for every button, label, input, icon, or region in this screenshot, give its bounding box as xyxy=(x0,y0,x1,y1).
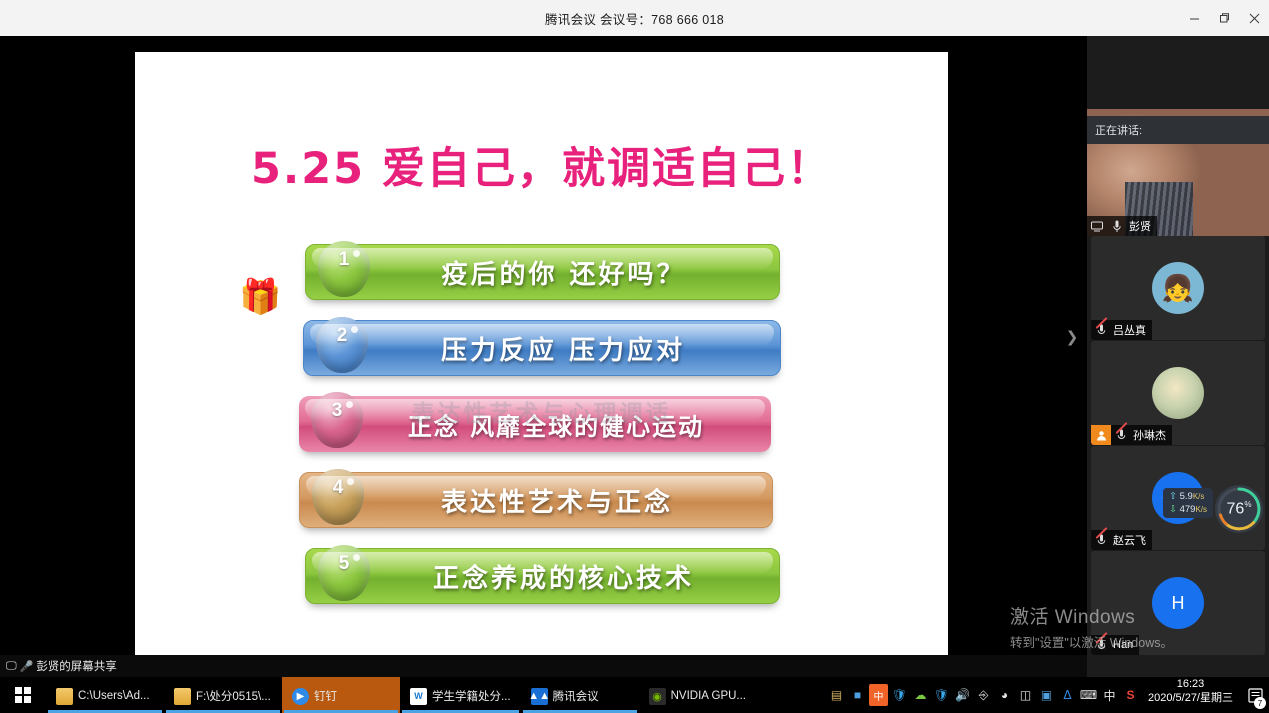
participant-tile-1[interactable]: 👧 吕丛真 xyxy=(1091,236,1265,340)
taskbar-label-5: NVIDIA GPU... xyxy=(671,690,746,702)
taskbar-item-nvidia[interactable]: ◉ NVIDIA GPU... xyxy=(639,677,757,713)
participant-namebar-4: Han xyxy=(1091,635,1139,655)
folder-icon xyxy=(56,688,73,705)
avatar: H xyxy=(1152,577,1204,629)
taskbar-label-3: 学生学籍处分... xyxy=(432,688,511,704)
taskbar-item-explorer-users[interactable]: C:\Users\Ad... xyxy=(46,677,164,713)
screen-share-status-bar: 🖵 🎤 彭贤的屏幕共享 xyxy=(0,655,1087,677)
bluetooth-icon[interactable]: ᐃ xyxy=(1058,684,1077,706)
badge-highlight-dot xyxy=(346,401,353,408)
tencent-meeting-icon: ▲▲ xyxy=(531,688,548,705)
gauge-number: 76 xyxy=(1227,500,1245,517)
sogou-icon[interactable]: S xyxy=(1121,684,1140,706)
battery-icon[interactable]: ◫ xyxy=(1016,684,1035,706)
speaking-now-label: 正在讲话: xyxy=(1087,116,1269,144)
microphone-icon xyxy=(1107,216,1127,236)
badge-highlight-dot xyxy=(347,478,354,485)
screen-share-status-text: 彭贤的屏幕共享 xyxy=(36,658,117,674)
close-button[interactable] xyxy=(1239,0,1269,36)
agenda-label-3: 正念 风靡全球的健心运动 xyxy=(299,407,771,442)
agenda-number-5: 5 xyxy=(339,553,350,575)
participant-namebar-2: 孙琳杰 xyxy=(1091,425,1172,445)
cloud-icon[interactable]: ☁ xyxy=(911,684,930,706)
volume-icon[interactable]: 🔊 xyxy=(953,684,972,706)
slide-agenda-list: 1 疫后的你 还好吗？ 2 压力反应 压力应对 xyxy=(135,234,948,614)
upload-speed-value: 5.9 xyxy=(1180,491,1193,502)
taskbar-label-0: C:\Users\Ad... xyxy=(78,690,150,702)
upload-speed-unit: K/s xyxy=(1193,492,1205,501)
shared-screen-stage: 5.25 爱自己，就调适自己！ 🎁 1 疫后的你 还好吗？ xyxy=(0,36,1087,677)
agenda-label-2: 压力反应 压力应对 xyxy=(304,330,780,367)
taskbar-label-4: 腾讯会议 xyxy=(553,688,599,704)
microphone-muted-icon xyxy=(1091,320,1111,340)
restore-button[interactable] xyxy=(1209,0,1239,36)
notification-count: 7 xyxy=(1254,697,1266,709)
participant-namebar-3: 赵云飞 xyxy=(1091,530,1152,550)
participants-sidebar: ❯ 正在讲话: 彭贤 👧 xyxy=(1087,36,1269,677)
title-bar: 腾讯会议 会议号：768 666 018 xyxy=(0,0,1269,36)
agenda-number-2: 2 xyxy=(337,325,348,347)
windows-logo-icon xyxy=(15,687,31,703)
host-badge-icon xyxy=(1091,425,1111,445)
window-title: 腾讯会议 会议号：768 666 018 xyxy=(545,9,724,28)
avatar: 👧 xyxy=(1152,262,1204,314)
microphone-muted-icon xyxy=(1111,425,1131,445)
slide-title: 5.25 爱自己，就调适自己！ xyxy=(135,134,948,196)
agenda-item-4: 4 表达性艺术与正念 xyxy=(135,462,948,538)
network-speeds: ⇧ 5.9K/s ⇩ 479K/s xyxy=(1163,488,1213,518)
keyboard-icon[interactable]: ⌨ xyxy=(1079,684,1098,706)
agenda-number-4: 4 xyxy=(333,477,344,499)
participant-namebar-0: 彭贤 xyxy=(1087,216,1157,236)
ime-mode-icon[interactable]: 中 xyxy=(1100,684,1119,706)
screen-share-icon xyxy=(1087,216,1107,236)
taskbar-label-2: 钉钉 xyxy=(314,688,337,704)
minimize-button[interactable] xyxy=(1179,0,1209,36)
gauge-unit: % xyxy=(1244,500,1251,509)
upload-speed-row: ⇧ 5.9K/s xyxy=(1169,490,1207,503)
agenda-number-1: 1 xyxy=(339,249,350,271)
badge-highlight-dot xyxy=(351,326,358,333)
monitor-icon: 🖵 xyxy=(6,660,17,673)
dingtalk-icon: ▶ xyxy=(292,688,309,705)
agenda-number-3: 3 xyxy=(332,400,343,422)
clock-time: 16:23 xyxy=(1148,677,1233,691)
taskbar-clock[interactable]: 16:23 2020/5/27/星期三 xyxy=(1144,677,1241,713)
download-speed-row: ⇩ 479K/s xyxy=(1169,503,1207,516)
taskbar-item-explorer-f[interactable]: F:\处分0515\... xyxy=(164,677,282,713)
agenda-item-3: 3 正念 风靡全球的健心运动 xyxy=(135,386,948,462)
taskbar-label-1: F:\处分0515\... xyxy=(196,688,271,704)
avatar-emoji: 👧 xyxy=(1162,273,1194,304)
tencent-shield-icon[interactable]: 🛡 xyxy=(890,684,909,706)
presentation-slide: 5.25 爱自己，就调适自己！ 🎁 1 疫后的你 还好吗？ xyxy=(135,52,948,661)
microphone-muted-icon xyxy=(1091,635,1111,655)
gauge-value: 76% xyxy=(1227,500,1252,518)
taskbar-item-dingtalk[interactable]: ▶ 钉钉 xyxy=(282,677,400,713)
microphone-muted-icon xyxy=(1091,530,1111,550)
agenda-item-5: 5 正念养成的核心技术 xyxy=(135,538,948,614)
usb-eject-icon[interactable]: ⎆ xyxy=(974,684,993,706)
taskbar-item-tencent-meeting[interactable]: ▲▲ 腾讯会议 xyxy=(521,677,639,713)
ime-chinese-icon[interactable]: 中 xyxy=(869,684,888,706)
badge-highlight-dot xyxy=(353,250,360,257)
agenda-bar-5: 5 正念养成的核心技术 xyxy=(305,548,780,604)
avatar-initials: H xyxy=(1172,593,1185,614)
network-monitor-widget[interactable]: ⇧ 5.9K/s ⇩ 479K/s 76% xyxy=(1191,485,1263,527)
system-tray: ▤ ■ 中 🛡 ☁ 🛡 🔊 ⎆ ◕ ◫ ▣ ᐃ ⌨ 中 S xyxy=(827,677,1144,713)
participant-name-2: 孙琳杰 xyxy=(1131,427,1172,443)
wps-icon: W xyxy=(410,688,427,705)
badge-highlight-dot xyxy=(353,554,360,561)
arrow-down-icon: ⇩ xyxy=(1169,504,1177,515)
clock-date: 2020/5/27/星期三 xyxy=(1148,691,1233,705)
arrow-up-icon: ⇧ xyxy=(1169,491,1177,502)
agenda-label-4: 表达性艺术与正念 xyxy=(300,482,772,519)
download-speed-unit: K/s xyxy=(1195,505,1207,514)
agenda-bar-4: 4 表达性艺术与正念 xyxy=(299,472,773,528)
display-icon[interactable]: ▣ xyxy=(1037,684,1056,706)
usb-device-icon[interactable]: ▤ xyxy=(827,684,846,706)
participant-name-3: 赵云飞 xyxy=(1111,532,1152,548)
download-speed-value: 479 xyxy=(1180,504,1196,515)
meeting-app-window: 腾讯会议 会议号：768 666 018 5.25 爱自己，就调适自己！ 🎁 xyxy=(0,0,1269,713)
nvidia-icon: ◉ xyxy=(649,688,666,705)
notification-icon[interactable]: 7 xyxy=(1241,677,1269,713)
windows-taskbar: C:\Users\Ad... F:\处分0515\... ▶ 钉钉 W 学生学籍… xyxy=(0,677,1269,713)
agenda-bar-2: 2 压力反应 压力应对 xyxy=(303,320,781,376)
agenda-label-1: 疫后的你 还好吗？ xyxy=(306,254,779,291)
agenda-bar-3: 3 正念 风靡全球的健心运动 xyxy=(299,396,771,452)
avatar xyxy=(1152,367,1204,419)
participant-namebar-1: 吕丛真 xyxy=(1091,320,1152,340)
stack-icon[interactable]: ■ xyxy=(848,684,867,706)
cpu-usage-gauge: 76% xyxy=(1215,485,1263,533)
wifi-icon[interactable]: ◕ xyxy=(995,684,1014,706)
taskbar-item-wps[interactable]: W 学生学籍处分... xyxy=(400,677,521,713)
start-button[interactable] xyxy=(0,677,46,713)
agenda-item-2: 2 压力反应 压力应对 xyxy=(135,310,948,386)
window-controls xyxy=(1179,0,1269,36)
agenda-label-5: 正念养成的核心技术 xyxy=(306,558,779,595)
folder-icon xyxy=(174,688,191,705)
participant-tile-2[interactable]: 孙琳杰 xyxy=(1091,341,1265,445)
agenda-bar-1: 1 疫后的你 还好吗？ xyxy=(305,244,780,300)
participant-name-4: Han xyxy=(1111,639,1139,651)
agenda-item-1: 1 疫后的你 还好吗？ xyxy=(135,234,948,310)
security-icon[interactable]: 🛡 xyxy=(932,684,951,706)
microphone-icon: 🎤 xyxy=(20,660,34,673)
participant-name-1: 吕丛真 xyxy=(1111,322,1152,338)
participant-tile-4[interactable]: H Han xyxy=(1091,551,1265,655)
participant-name-0: 彭贤 xyxy=(1127,218,1157,234)
chevron-right-icon[interactable]: ❯ xyxy=(1063,320,1081,354)
